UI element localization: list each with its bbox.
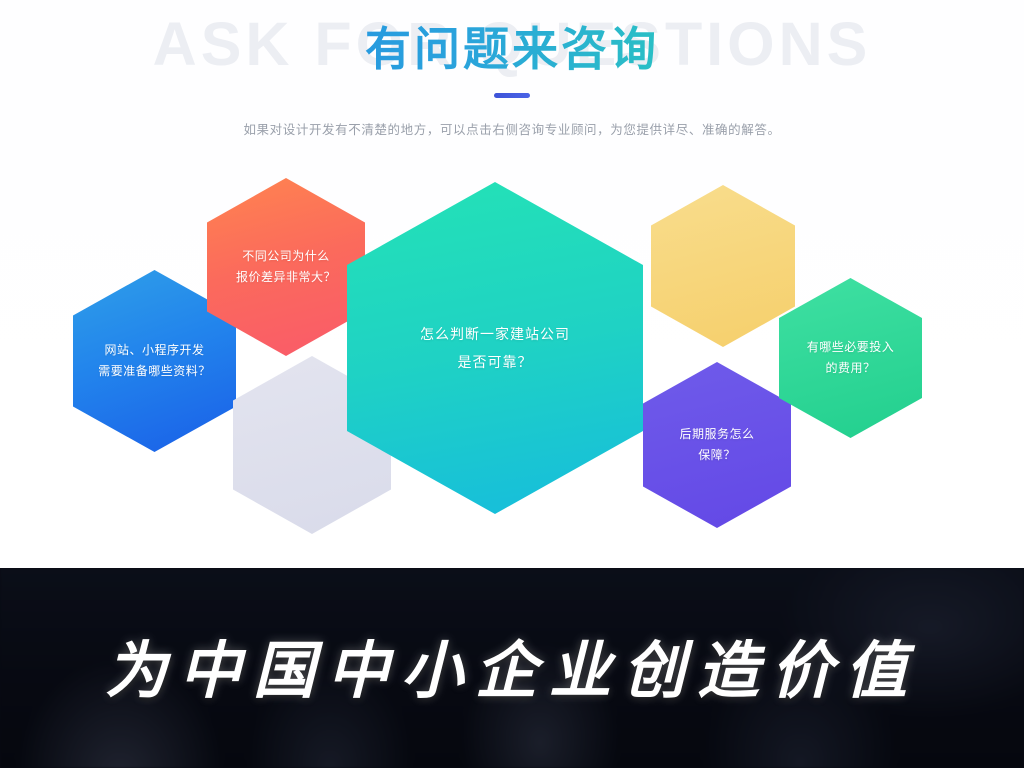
faq-hex-placeholder-yellow[interactable]: [651, 185, 795, 347]
faq-hexagon-grid: 网站、小程序开发 需要准备哪些资料？ 不同公司为什么 报价差异非常大？ 怎么判断…: [0, 160, 1024, 560]
faq-hex-line-1: 后期服务怎么: [679, 424, 754, 445]
faq-hex-label: 后期服务怎么 保障？: [671, 424, 762, 466]
faq-hex-necessary-costs[interactable]: 有哪些必要投入 的费用？: [779, 278, 922, 438]
title-divider: [494, 93, 530, 98]
bottom-slogan-banner: 为中国中小企业创造价值: [0, 568, 1024, 768]
faq-hex-line-1: 网站、小程序开发: [98, 340, 211, 361]
section-header: ASK FOR QUESTIONS 有问题来咨询 如果对设计开发有不清楚的地方，…: [0, 0, 1024, 160]
faq-hex-line-1: 怎么判断一家建站公司: [420, 320, 570, 348]
page-root: ASK FOR QUESTIONS 有问题来咨询 如果对设计开发有不清楚的地方，…: [0, 0, 1024, 768]
faq-hex-label: 有哪些必要投入 的费用？: [799, 337, 903, 379]
faq-hex-label: 网站、小程序开发 需要准备哪些资料？: [90, 340, 219, 382]
faq-hex-line-2: 报价差异非常大？: [236, 267, 336, 288]
page-subtitle: 如果对设计开发有不清楚的地方，可以点击右侧咨询专业顾问，为您提供详尽、准确的解答…: [0, 119, 1024, 138]
faq-hex-line-2: 保障？: [679, 445, 754, 466]
faq-hex-line-1: 有哪些必要投入: [807, 337, 895, 358]
faq-hex-line-2: 的费用？: [807, 358, 895, 379]
faq-hex-reliable-company[interactable]: 怎么判断一家建站公司 是否可靠？: [347, 182, 643, 514]
faq-hex-label: 不同公司为什么 报价差异非常大？: [228, 246, 344, 288]
faq-hex-line-1: 不同公司为什么: [236, 246, 336, 267]
faq-hex-label: 怎么判断一家建站公司 是否可靠？: [412, 320, 578, 376]
banner-slogan: 为中国中小企业创造价值: [0, 620, 1024, 710]
faq-hex-after-sales[interactable]: 后期服务怎么 保障？: [643, 362, 791, 528]
faq-hex-line-2: 需要准备哪些资料？: [98, 361, 211, 382]
faq-hex-line-2: 是否可靠？: [420, 348, 570, 376]
page-title: 有问题来咨询: [0, 22, 1024, 77]
